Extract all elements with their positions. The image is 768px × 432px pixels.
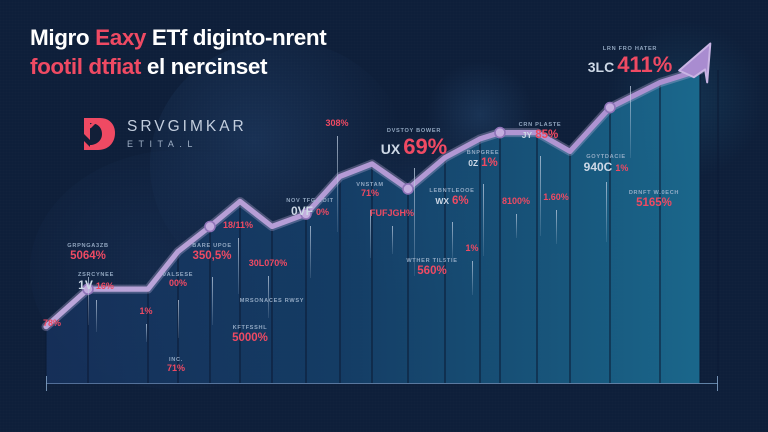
annotation-prefix: JY [522,130,532,140]
annotation-value: 8100% [502,197,530,206]
x-axis-cap-right [717,376,718,391]
annotation-value: 0Z1% [467,157,500,169]
annotation-value: 78% [43,319,61,328]
chart-annotation: 0ALSESE00% [163,272,193,288]
annotation-leader-line [96,300,97,332]
chart-annotation: LRN FRO HATER3LC411% [588,46,673,76]
annotation-value: 18/11% [223,221,253,230]
chart-annotation: NOV TFG LOIT0VF0% [286,198,334,218]
annotation-leader-line [606,182,607,242]
chart-annotation: GRPNGA3ZB5064% [67,243,108,262]
chart-annotation: 1.60% [543,192,569,202]
headline: Migro Eaxy ETf diginto-nrent footil dtfi… [30,24,500,82]
annotation-leader-line [392,226,393,254]
annotation-leader-line [178,300,179,338]
annotation-title: GOYTDACIE [584,154,629,160]
annotation-value: 0VF0% [286,205,334,218]
annotation-title: DVSTOY BOWER [381,128,448,134]
annotation-prefix: 3LC [588,59,614,75]
logo-text: SRVGIMKAR ETITA.L [127,119,247,149]
chart-annotation: CRN PLASTEJY85% [519,122,562,141]
chart-data-point[interactable] [605,103,615,113]
annotation-title: KFTFSSHL [232,325,268,331]
brand-logo: SRVGIMKAR ETITA.L [82,116,247,152]
annotation-value: 1.60% [543,193,569,202]
annotation-title: NOV TFG LOIT [286,198,334,204]
chart-annotation: 1% [139,306,152,316]
chart-annotation: 30L070% [249,258,288,268]
x-axis-line [46,383,718,384]
headline-accent-1: Eaxy [95,25,146,50]
annotation-leader-line [268,276,269,318]
annotation-value: 71% [167,364,185,373]
annotation-leader-line [540,156,541,236]
annotation-leader-line [516,214,517,238]
chart-annotation: KFTFSSHL5000% [232,325,268,344]
annotation-title: ZSRCYNEE [78,272,114,278]
annotation-prefix: WX [435,196,449,206]
annotation-prefix: 0VF [291,204,313,218]
annotation-value: 5064% [67,250,108,262]
annotation-value: 308% [325,119,348,128]
annotation-title: BARE UPOE [192,243,232,249]
headline-word-3: el nercinset [141,54,267,79]
annotation-value: FUFJGH% [370,209,414,218]
annotation-leader-line [472,261,473,295]
infographic-canvas: 78%GRPNGA3ZB5064%ZSRCYNEE1V16%1%0ALSESE0… [0,0,768,432]
annotation-leader-line [556,210,557,244]
annotation-title: DRNFT W.0ECH [629,190,679,196]
annotation-title: 0ALSESE [163,272,193,278]
annotation-value: 71% [356,189,383,198]
annotation-value: 5000% [232,332,268,344]
annotation-value: 1% [139,307,152,316]
annotation-value: 560% [406,265,457,277]
annotation-value: JY85% [519,129,562,141]
annotation-prefix: 1V [78,278,93,292]
annotation-leader-line [146,324,147,342]
annotation-prefix: 0Z [468,158,478,168]
chart-annotation: INC.71% [167,357,185,373]
chart-annotation: 18/11% [223,220,253,230]
annotation-title: BNPGREE [467,150,500,156]
annotation-prefix: 940C [584,160,613,174]
chart-data-point[interactable] [495,128,505,138]
headline-line-1: Migro Eaxy ETf diginto-nrent [30,24,500,53]
annotation-value: 1% [465,244,478,253]
annotation-leader-line [337,136,338,232]
annotation-leader-line [483,184,484,256]
chart-annotation: FUFJGH% [370,208,414,218]
chart-annotation: GOYTDACIE940C1% [584,154,629,174]
headline-line-2: footil dtfiat el nercinset [30,53,500,82]
headline-accent-2: footil dtfiat [30,54,141,79]
annotation-leader-line [452,222,453,258]
annotation-leader-line [310,226,311,278]
annotation-title: LRN FRO HATER [588,46,673,52]
annotation-title: MRSONACES RWSY [240,298,304,304]
chart-annotation: LEBNTLEOOEWX6% [429,188,474,207]
annotation-title: INC. [167,357,185,363]
annotation-value: 5165% [629,197,679,209]
annotation-value: 350,5% [192,250,232,262]
annotation-leader-line [212,277,213,325]
chart-annotation: 308% [325,118,348,128]
logo-name: SRVGIMKAR [127,119,247,135]
annotation-value: UX69% [381,135,448,158]
annotation-title: VNSTAM [356,182,383,188]
chart-annotation: 8100% [502,196,530,206]
annotation-leader-line [238,238,239,294]
chart-annotation: 1% [465,243,478,253]
annotation-value: 1V16% [78,279,114,292]
chart-annotation: 78% [43,318,61,328]
logo-subtitle: ETITA.L [127,140,247,149]
annotation-value: 3LC411% [588,53,673,76]
chart-annotation: DRNFT W.0ECH5165% [629,190,679,209]
annotation-value: 30L070% [249,259,288,268]
chart-annotation: DVSTOY BOWERUX69% [381,128,448,158]
x-axis-cap-left [46,376,47,391]
annotation-title: GRPNGA3ZB [67,243,108,249]
annotation-prefix: UX [381,141,400,157]
annotation-title: WTHER TIL5TIE [406,258,457,264]
chart-annotation: ZSRCYNEE1V16% [78,272,114,292]
chart-data-point[interactable] [403,184,413,194]
chart-annotation: MRSONACES RWSY [240,298,304,304]
annotation-leader-line [630,86,631,158]
chart-data-point[interactable] [205,222,215,232]
headline-word-2: ETf diginto-nrent [146,25,326,50]
chart-annotation: BARE UPOE350,5% [192,243,232,262]
annotation-title: LEBNTLEOOE [429,188,474,194]
annotation-value: 940C1% [584,161,629,174]
chart-annotation: VNSTAM71% [356,182,383,198]
annotation-value: 00% [163,279,193,288]
annotation-title: CRN PLASTE [519,122,562,128]
logo-d-mark-icon [82,116,116,152]
annotation-value: WX6% [429,195,474,207]
headline-word-1: Migro [30,25,95,50]
chart-annotation: BNPGREE0Z1% [467,150,500,169]
chart-annotation: WTHER TIL5TIE560% [406,258,457,277]
